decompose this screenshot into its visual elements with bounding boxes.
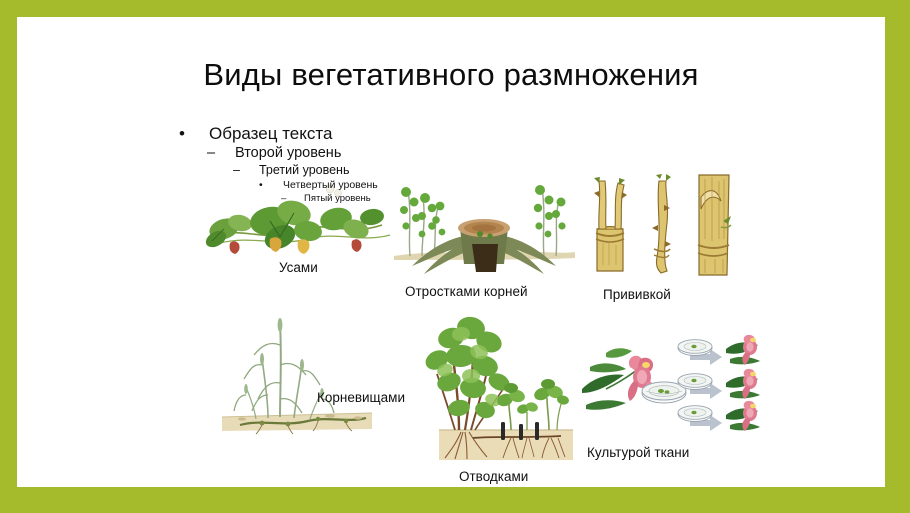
caption-kulturoy-tkani: Культурой ткани: [587, 445, 689, 460]
placeholder-level-2-label: Второй уровень: [235, 145, 341, 161]
placeholder-level-5-label: Пятый уровень: [304, 193, 371, 204]
bullet-level-3: –: [245, 164, 259, 177]
caption-kornevishchami: Корневищами: [317, 390, 405, 405]
placeholder-level-4: •Четвертый уровень: [195, 180, 525, 191]
placeholder-level-1: •Образец текста: [195, 125, 525, 143]
page-title: Виды вегетативного размножения: [17, 57, 885, 93]
layering-currant-bush-illustration: [415, 312, 575, 462]
bullet-level-1: •: [195, 125, 209, 143]
bullet-level-4: •: [269, 180, 283, 191]
grafting-branches-illustration: [585, 167, 740, 277]
caption-otrostkami-korney: Отростками корней: [405, 284, 528, 299]
placeholder-level-3-label: Третий уровень: [259, 163, 349, 177]
placeholder-level-5: –Пятый уровень: [195, 194, 525, 204]
bullet-level-5: –: [290, 194, 304, 204]
caption-privivkoy: Прививкой: [603, 287, 671, 302]
rhizome-grass-illustration: [222, 315, 372, 437]
caption-usami: Усами: [279, 260, 318, 275]
placeholder-level-1-label: Образец текста: [209, 124, 332, 143]
tissue-culture-orchid-illustration: [580, 335, 775, 435]
placeholder-level-4-label: Четвертый уровень: [283, 179, 378, 191]
placeholder-level-3: –Третий уровень: [195, 164, 525, 177]
bullet-level-2: –: [221, 146, 235, 161]
text-placeholder[interactable]: •Образец текста –Второй уровень –Третий …: [195, 125, 525, 204]
placeholder-level-2: –Второй уровень: [195, 146, 525, 161]
caption-otvodkami: Отводками: [459, 469, 528, 484]
slide-canvas: Виды вегетативного размножения •Образец …: [17, 17, 885, 487]
